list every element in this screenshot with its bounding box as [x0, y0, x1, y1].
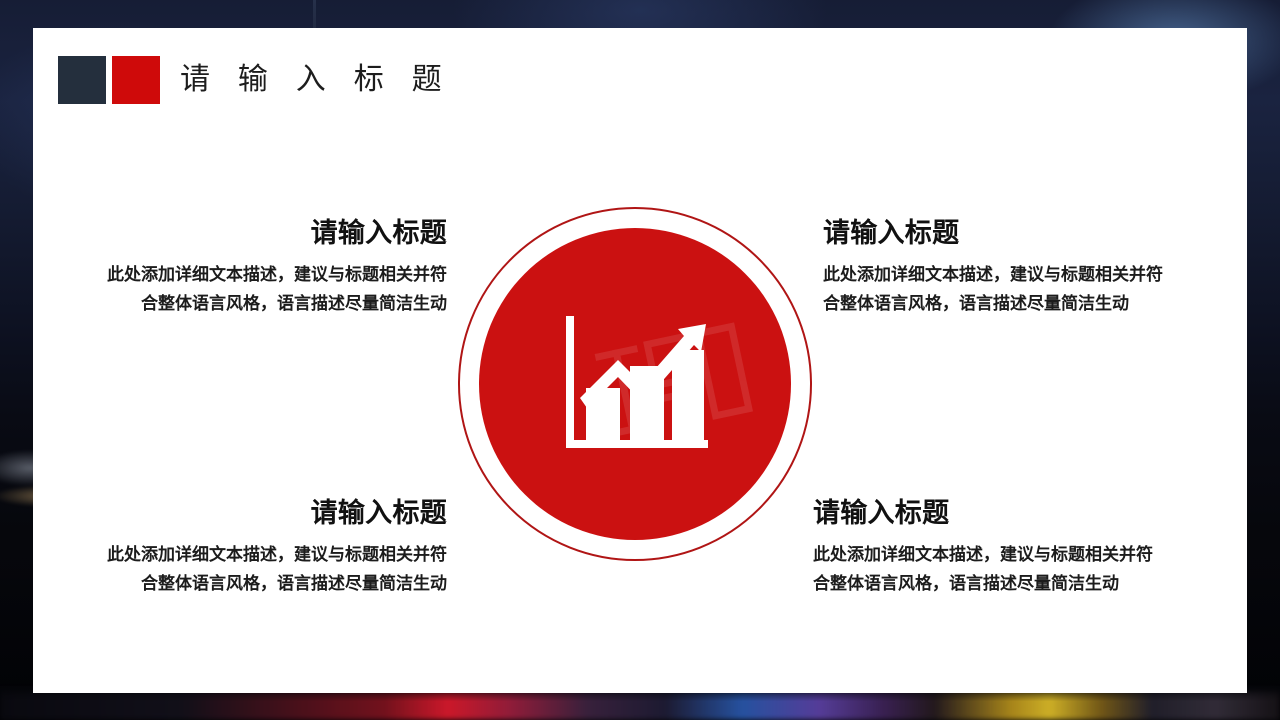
growth-bar-chart-icon: [560, 314, 710, 454]
block-body-line-1: 此处添加详细文本描述，建议与标题相关并符: [823, 260, 1213, 289]
content-block-top-left: 请输入标题 此处添加详细文本描述，建议与标题相关并符 合整体语言风格，语言描述尽…: [57, 218, 447, 319]
content-block-bottom-left: 请输入标题 此处添加详细文本描述，建议与标题相关并符 合整体语言风格，语言描述尽…: [57, 498, 447, 599]
block-body-line-2: 合整体语言风格，语言描述尽量简洁生动: [57, 569, 447, 598]
presentation-slide: 请 输 入 标 题 请输入标题 此处添加详细文本描述，建议与标题相关并符 合整体…: [0, 0, 1280, 720]
header-marker-red-square: [112, 56, 160, 104]
block-body-line-1: 此处添加详细文本描述，建议与标题相关并符: [813, 540, 1203, 569]
content-block-bottom-right: 请输入标题 此处添加详细文本描述，建议与标题相关并符 合整体语言风格，语言描述尽…: [813, 498, 1203, 599]
content-block-top-right: 请输入标题 此处添加详细文本描述，建议与标题相关并符 合整体语言风格，语言描述尽…: [823, 218, 1213, 319]
block-title: 请输入标题: [57, 498, 447, 529]
block-title: 请输入标题: [813, 498, 1203, 529]
block-body-line-1: 此处添加详细文本描述，建议与标题相关并符: [57, 260, 447, 289]
block-body-line-2: 合整体语言风格，语言描述尽量简洁生动: [813, 569, 1203, 598]
emblem-red-disc: [479, 228, 791, 540]
block-body-line-1: 此处添加详细文本描述，建议与标题相关并符: [57, 540, 447, 569]
block-body-line-2: 合整体语言风格，语言描述尽量简洁生动: [823, 289, 1213, 318]
slide-header: 请 输 入 标 题: [58, 56, 452, 104]
slide-content-card: 请 输 入 标 题 请输入标题 此处添加详细文本描述，建议与标题相关并符 合整体…: [33, 28, 1247, 693]
central-emblem: [458, 207, 812, 561]
header-marker-dark-square: [58, 56, 106, 104]
block-title: 请输入标题: [823, 218, 1213, 249]
block-title: 请输入标题: [57, 218, 447, 249]
page-title: 请 输 入 标 题: [180, 65, 452, 95]
block-body-line-2: 合整体语言风格，语言描述尽量简洁生动: [57, 289, 447, 318]
